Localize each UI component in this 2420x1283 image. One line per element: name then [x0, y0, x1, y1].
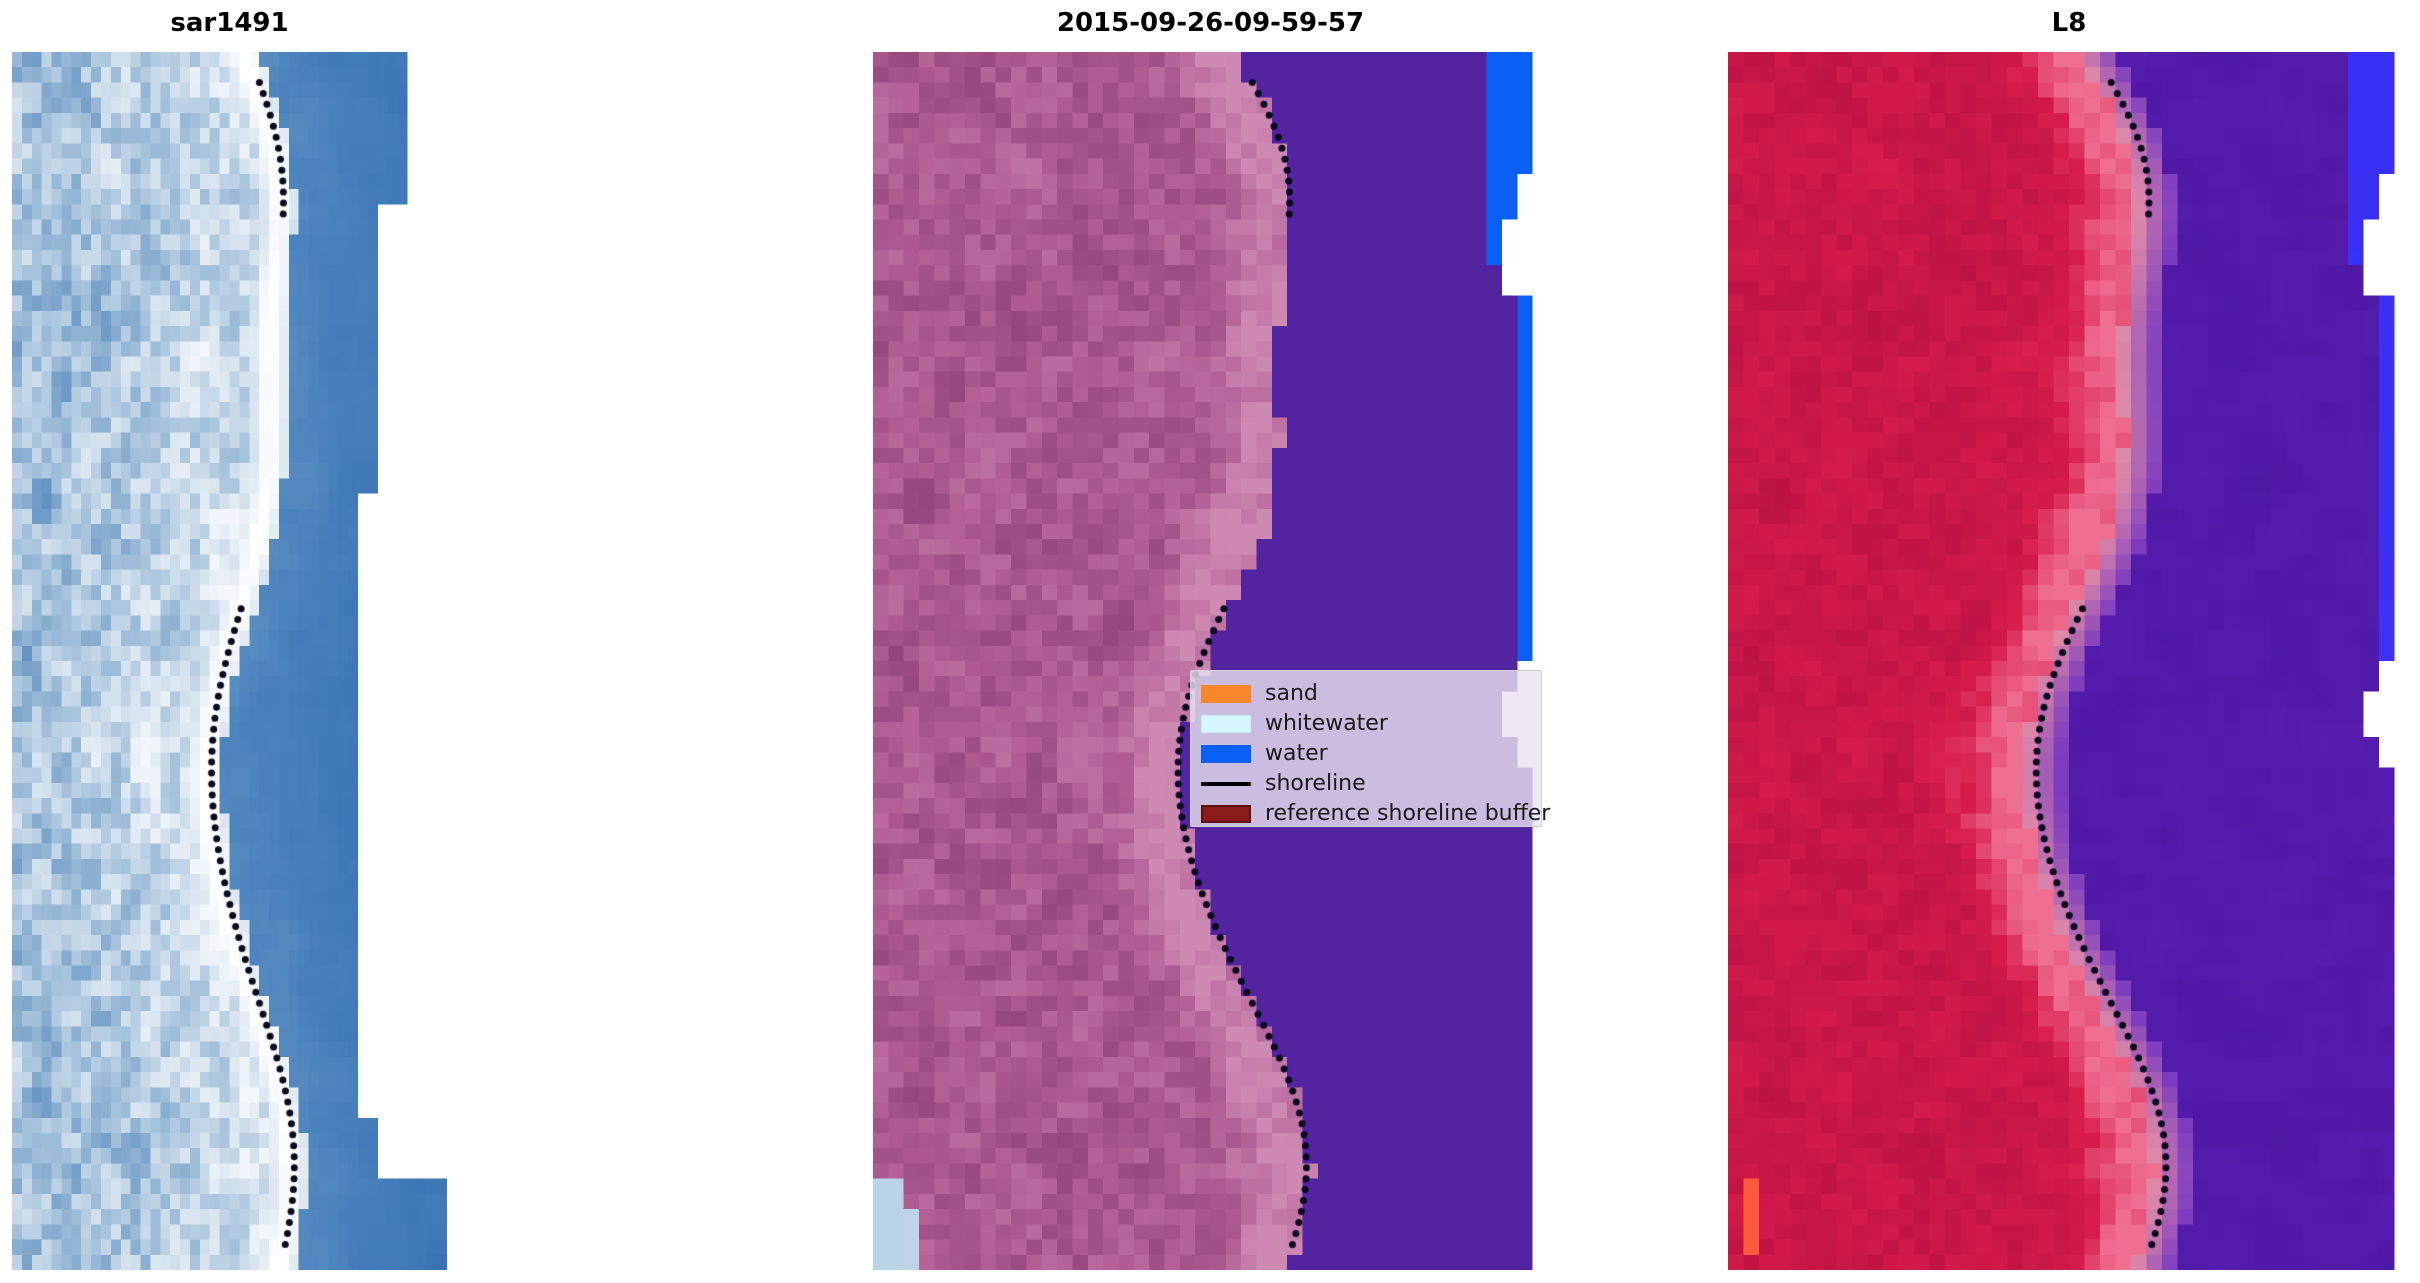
reference-buffer-swatch-icon: [1201, 805, 1251, 823]
legend-item-sand: sand: [1201, 679, 1529, 709]
panel-title-l8: L8: [1728, 6, 2410, 40]
panel-title-date: 2015-09-26-09-59-57: [873, 6, 1548, 40]
panel-title-sar1491: sar1491: [12, 6, 447, 40]
shoreline-overlay: [1728, 52, 2410, 1270]
water-swatch-icon: [1201, 745, 1251, 763]
legend-label-water: water: [1265, 743, 1328, 765]
legend-label-shoreline: shoreline: [1265, 773, 1366, 795]
legend-label-reference-buffer: reference shoreline buffer: [1265, 803, 1550, 825]
shoreline-overlay: [12, 52, 447, 1270]
whitewater-swatch-icon: [1201, 715, 1251, 733]
legend-item-whitewater: whitewater: [1201, 709, 1529, 739]
legend-label-sand: sand: [1265, 683, 1318, 705]
shoreline-overlay: [873, 52, 1548, 1270]
legend-item-reference-buffer: reference shoreline buffer: [1201, 799, 1529, 829]
shoreline-line-icon: [1201, 782, 1251, 786]
legend-label-whitewater: whitewater: [1265, 713, 1388, 735]
map-legend: sand whitewater water shoreline referenc…: [1190, 670, 1542, 827]
panel-l8: [1728, 52, 2410, 1270]
sand-swatch-icon: [1201, 685, 1251, 703]
figure-canvas: sar1491 2015-09-26-09-59-57 L8 sand whit…: [0, 0, 2420, 1283]
panel-classified-image: [873, 52, 1548, 1270]
legend-item-water: water: [1201, 739, 1529, 769]
legend-item-shoreline: shoreline: [1201, 769, 1529, 799]
panel-sar1491: [12, 52, 447, 1270]
